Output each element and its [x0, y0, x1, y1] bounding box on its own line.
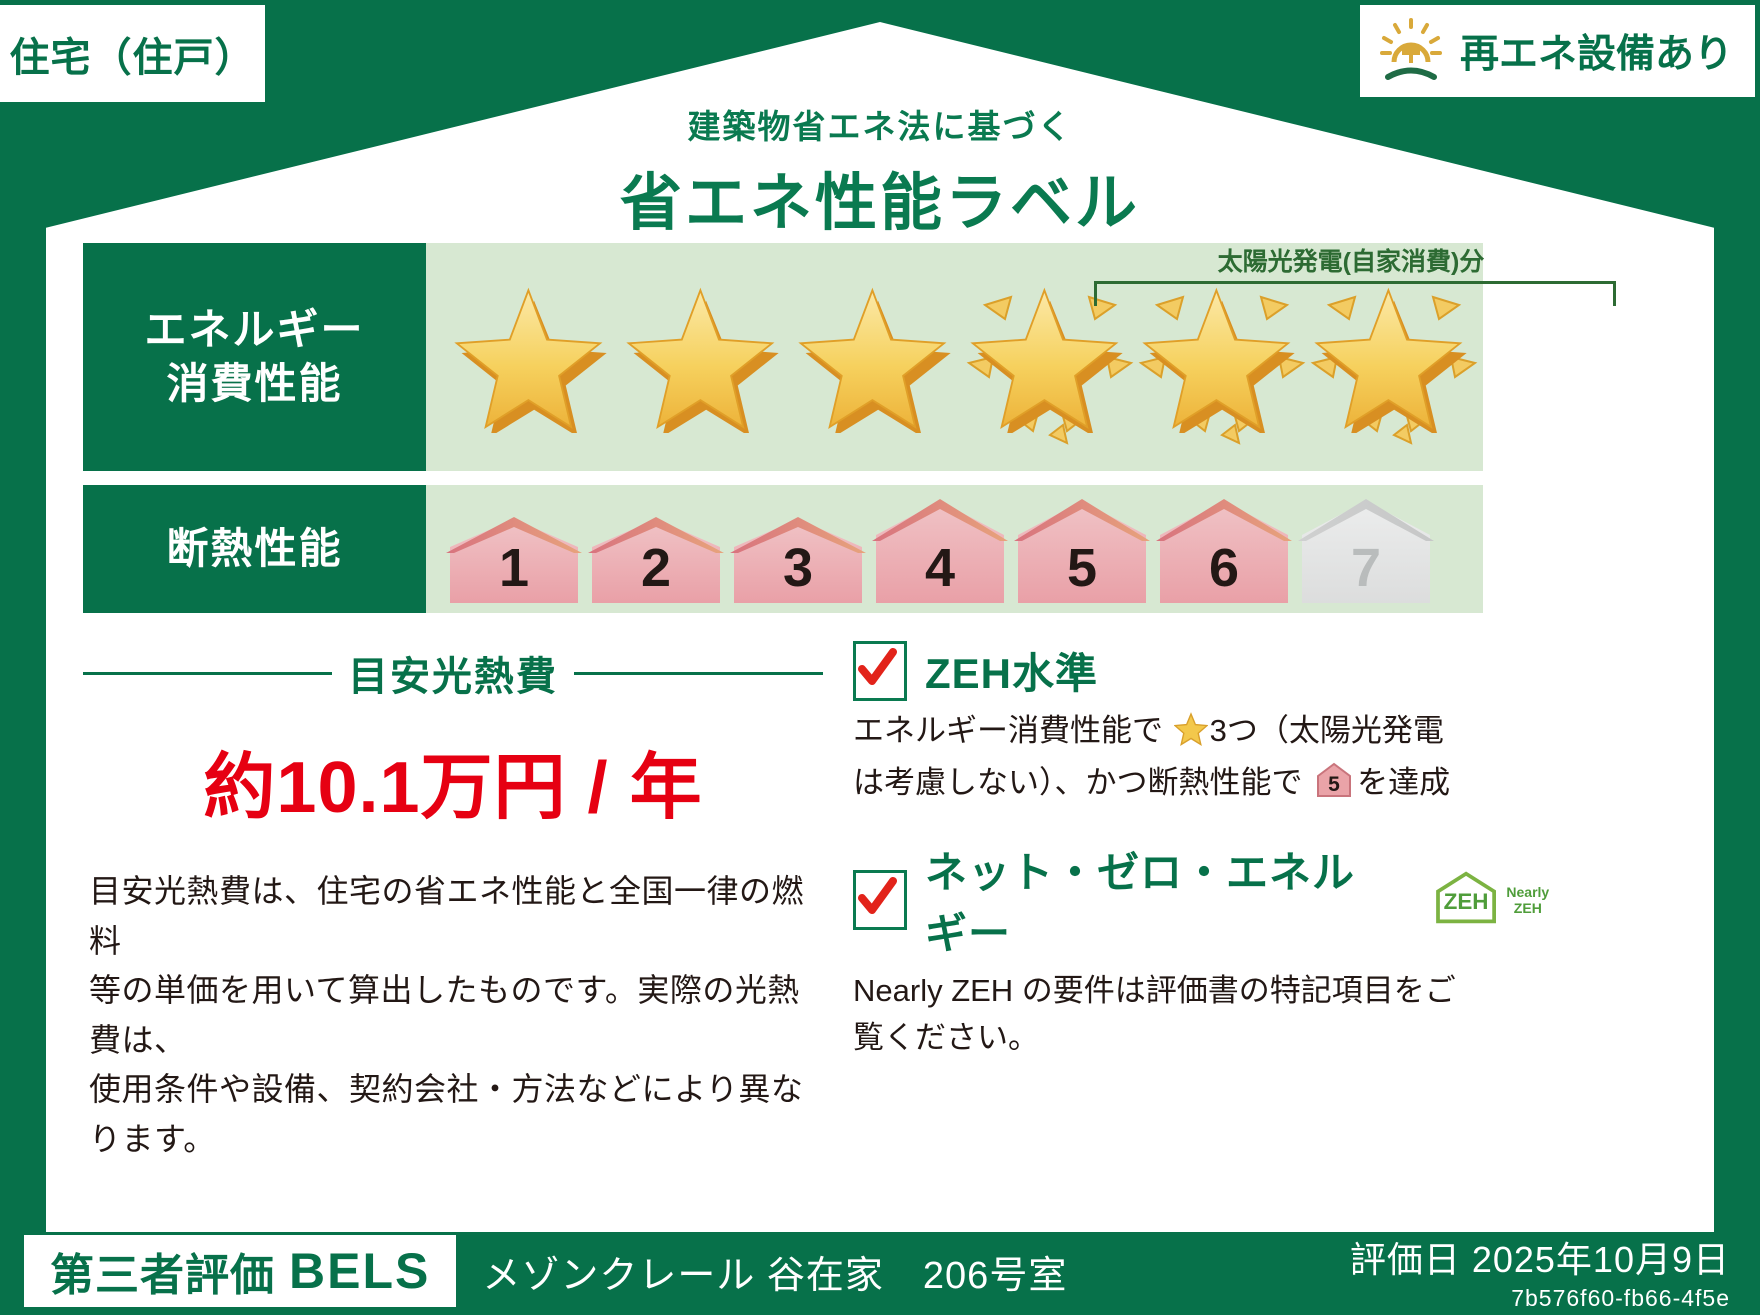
- insulation-level-number: 5: [1012, 537, 1152, 599]
- insulation-level-2: 2: [586, 515, 726, 607]
- bels-badge: 第三者評価 BELS: [24, 1235, 456, 1307]
- zeh-desc-part-c: は考慮しない）、かつ断熱性能で: [853, 765, 1303, 800]
- insulation-level-scale: 1234567: [426, 489, 1483, 607]
- utility-cost-note-line3: 使用条件や設備、契約会社・方法などにより異なります。: [89, 1065, 817, 1164]
- insulation-performance-row: 断熱性能 1234567: [83, 485, 1483, 613]
- title-main: 省エネ性能ラベル: [0, 152, 1760, 242]
- insulation-row-body: 1234567: [426, 485, 1483, 613]
- star-3: [792, 272, 964, 442]
- label-title-block: 建築物省エネ法に基づく 省エネ性能ラベル: [0, 100, 1760, 242]
- bels-en-label: BELS: [289, 1242, 430, 1300]
- property-name: メゾンクレール 谷在家 206号室: [482, 1244, 1067, 1299]
- evaluation-date: 評価日 2025年10月9日: [1350, 1231, 1730, 1283]
- inline-star-icon: [1165, 718, 1208, 753]
- zeh-standard-label: ZEH水準: [925, 640, 1098, 701]
- utility-cost-section: 目安光熱費 約10.1万円 / 年 目安光熱費は、住宅の省エネ性能と全国一律の燃…: [83, 640, 823, 1165]
- lower-content: 目安光熱費 約10.1万円 / 年 目安光熱費は、住宅の省エネ性能と全国一律の燃…: [83, 640, 1563, 1165]
- energy-performance-row: エネルギー 消費性能 太陽光発電(自家消費)分: [83, 243, 1483, 471]
- insulation-level-1: 1: [444, 515, 584, 607]
- utility-cost-note: 目安光熱費は、住宅の省エネ性能と全国一律の燃料 等の単価を用いて算出したものです…: [83, 867, 823, 1165]
- renewable-badge-label: 再エネ設備あり: [1460, 23, 1733, 79]
- renewable-equipment-badge: 再エネ設備あり: [1360, 5, 1755, 97]
- utility-cost-value: 約10.1万円 / 年: [83, 728, 823, 833]
- insulation-row-label: 断熱性能: [83, 485, 426, 613]
- zeh-desc-part-a: エネルギー消費性能で: [853, 713, 1163, 748]
- zeh-logo: ZEH Nearly ZEH: [1429, 869, 1563, 932]
- solar-plug-icon: [1374, 14, 1448, 88]
- zeh-standard-row: ZEH水準: [853, 640, 1563, 701]
- net-zero-energy-label: ネット・ゼロ・エネルギー: [925, 839, 1397, 961]
- solar-annotation-label: 太陽光発電(自家消費)分: [1086, 242, 1616, 278]
- zeh-desc-part-b: 3つ（太陽光発電: [1210, 713, 1444, 748]
- zeh-standard-checkbox[interactable]: [853, 641, 907, 701]
- category-badge-label: 住宅（住戸）: [10, 25, 256, 83]
- category-badge: 住宅（住戸）: [0, 5, 265, 102]
- insulation-level-number: 7: [1296, 537, 1436, 599]
- solar-bracket: [1094, 281, 1616, 306]
- insulation-level-number: 1: [444, 537, 584, 599]
- insulation-level-number: 2: [586, 537, 726, 599]
- net-zero-energy-description: Nearly ZEH の要件は評価書の特記項目をご 覧ください。: [853, 967, 1563, 1061]
- net-zero-energy-checkbox[interactable]: [853, 870, 907, 930]
- heading-rule-left: [83, 672, 332, 675]
- performance-rows: エネルギー 消費性能 太陽光発電(自家消費)分 断熱性能 1234567: [83, 243, 1483, 613]
- net-zero-energy-row: ネット・ゼロ・エネルギー ZEH Nearly ZEH: [853, 839, 1563, 961]
- heading-rule-right: [574, 672, 823, 675]
- insulation-level-number: 4: [870, 537, 1010, 599]
- insulation-level-4: 4: [870, 497, 1010, 607]
- utility-cost-note-line2: 等の単価を用いて算出したものです。実際の光熱費は、: [89, 966, 817, 1065]
- evaluation-id: 7b576f60-fb66-4f5e: [1350, 1285, 1730, 1312]
- energy-row-body: 太陽光発電(自家消費)分: [426, 243, 1483, 471]
- svg-text:5: 5: [1328, 773, 1340, 796]
- bels-jp-label: 第三者評価: [50, 1239, 275, 1303]
- star-2: [620, 272, 792, 442]
- zeh-standard-description: エネルギー消費性能で 3つ（太陽光発電 は考慮しない）、かつ断熱性能で 5 を達…: [853, 707, 1563, 813]
- insulation-level-3: 3: [728, 515, 868, 607]
- nze-desc-line1: Nearly ZEH の要件は評価書の特記項目をご: [853, 967, 1563, 1014]
- svg-text:Nearly: Nearly: [1506, 884, 1549, 900]
- utility-cost-heading-label: 目安光熱費: [348, 644, 558, 702]
- utility-cost-note-line1: 目安光熱費は、住宅の省エネ性能と全国一律の燃料: [89, 867, 817, 966]
- insulation-level-number: 6: [1154, 537, 1294, 599]
- nze-desc-line2: 覧ください。: [853, 1014, 1563, 1061]
- svg-text:ZEH: ZEH: [1444, 889, 1489, 914]
- label-footer: 第三者評価 BELS メゾンクレール 谷在家 206号室 評価日 2025年10…: [0, 1227, 1760, 1315]
- zeh-section: ZEH水準 エネルギー消費性能で 3つ（太陽光発電 は考慮しない）、かつ断熱性能…: [823, 640, 1563, 1165]
- utility-cost-heading: 目安光熱費: [83, 644, 823, 702]
- inline-house-level-icon: 5: [1306, 772, 1355, 807]
- energy-row-label: エネルギー 消費性能: [83, 243, 426, 471]
- insulation-level-number: 3: [728, 537, 868, 599]
- insulation-level-6: 6: [1154, 497, 1294, 607]
- title-subtitle: 建築物省エネ法に基づく: [0, 100, 1760, 148]
- evaluation-info: 評価日 2025年10月9日 7b576f60-fb66-4f5e: [1350, 1231, 1730, 1312]
- zeh-desc-part-d: を達成: [1357, 765, 1450, 800]
- svg-text:ZEH: ZEH: [1514, 900, 1542, 916]
- star-1: [448, 272, 620, 442]
- insulation-level-7: 7: [1296, 497, 1436, 607]
- insulation-level-5: 5: [1012, 497, 1152, 607]
